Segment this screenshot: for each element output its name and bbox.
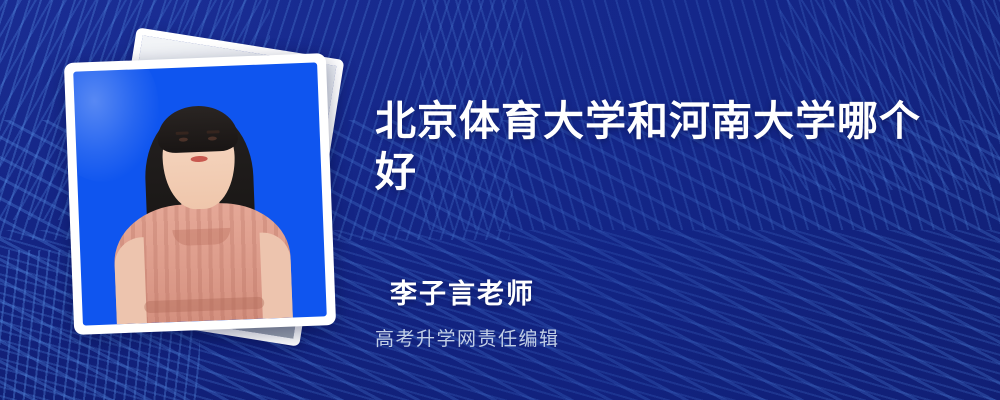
banner-text-block: 北京体育大学和河南大学哪个好 李子言老师 高考升学网责任编辑 (375, 0, 975, 400)
portrait-shoulder-left (114, 237, 147, 324)
author-name: 李子言老师 (390, 272, 535, 311)
portrait-illustration (73, 62, 327, 325)
photo-stack (55, 42, 355, 362)
page-title: 北京体育大学和河南大学哪个好 (375, 96, 950, 199)
portrait-eyebrow-right (207, 130, 220, 133)
author-photo (73, 62, 327, 325)
article-header-banner: 北京体育大学和河南大学哪个好 李子言老师 高考升学网责任编辑 (0, 0, 1000, 400)
photo-frame (64, 53, 336, 335)
portrait-hair-front (157, 105, 239, 154)
author-role: 高考升学网责任编辑 (375, 324, 560, 351)
portrait-eyebrow-left (176, 131, 189, 134)
